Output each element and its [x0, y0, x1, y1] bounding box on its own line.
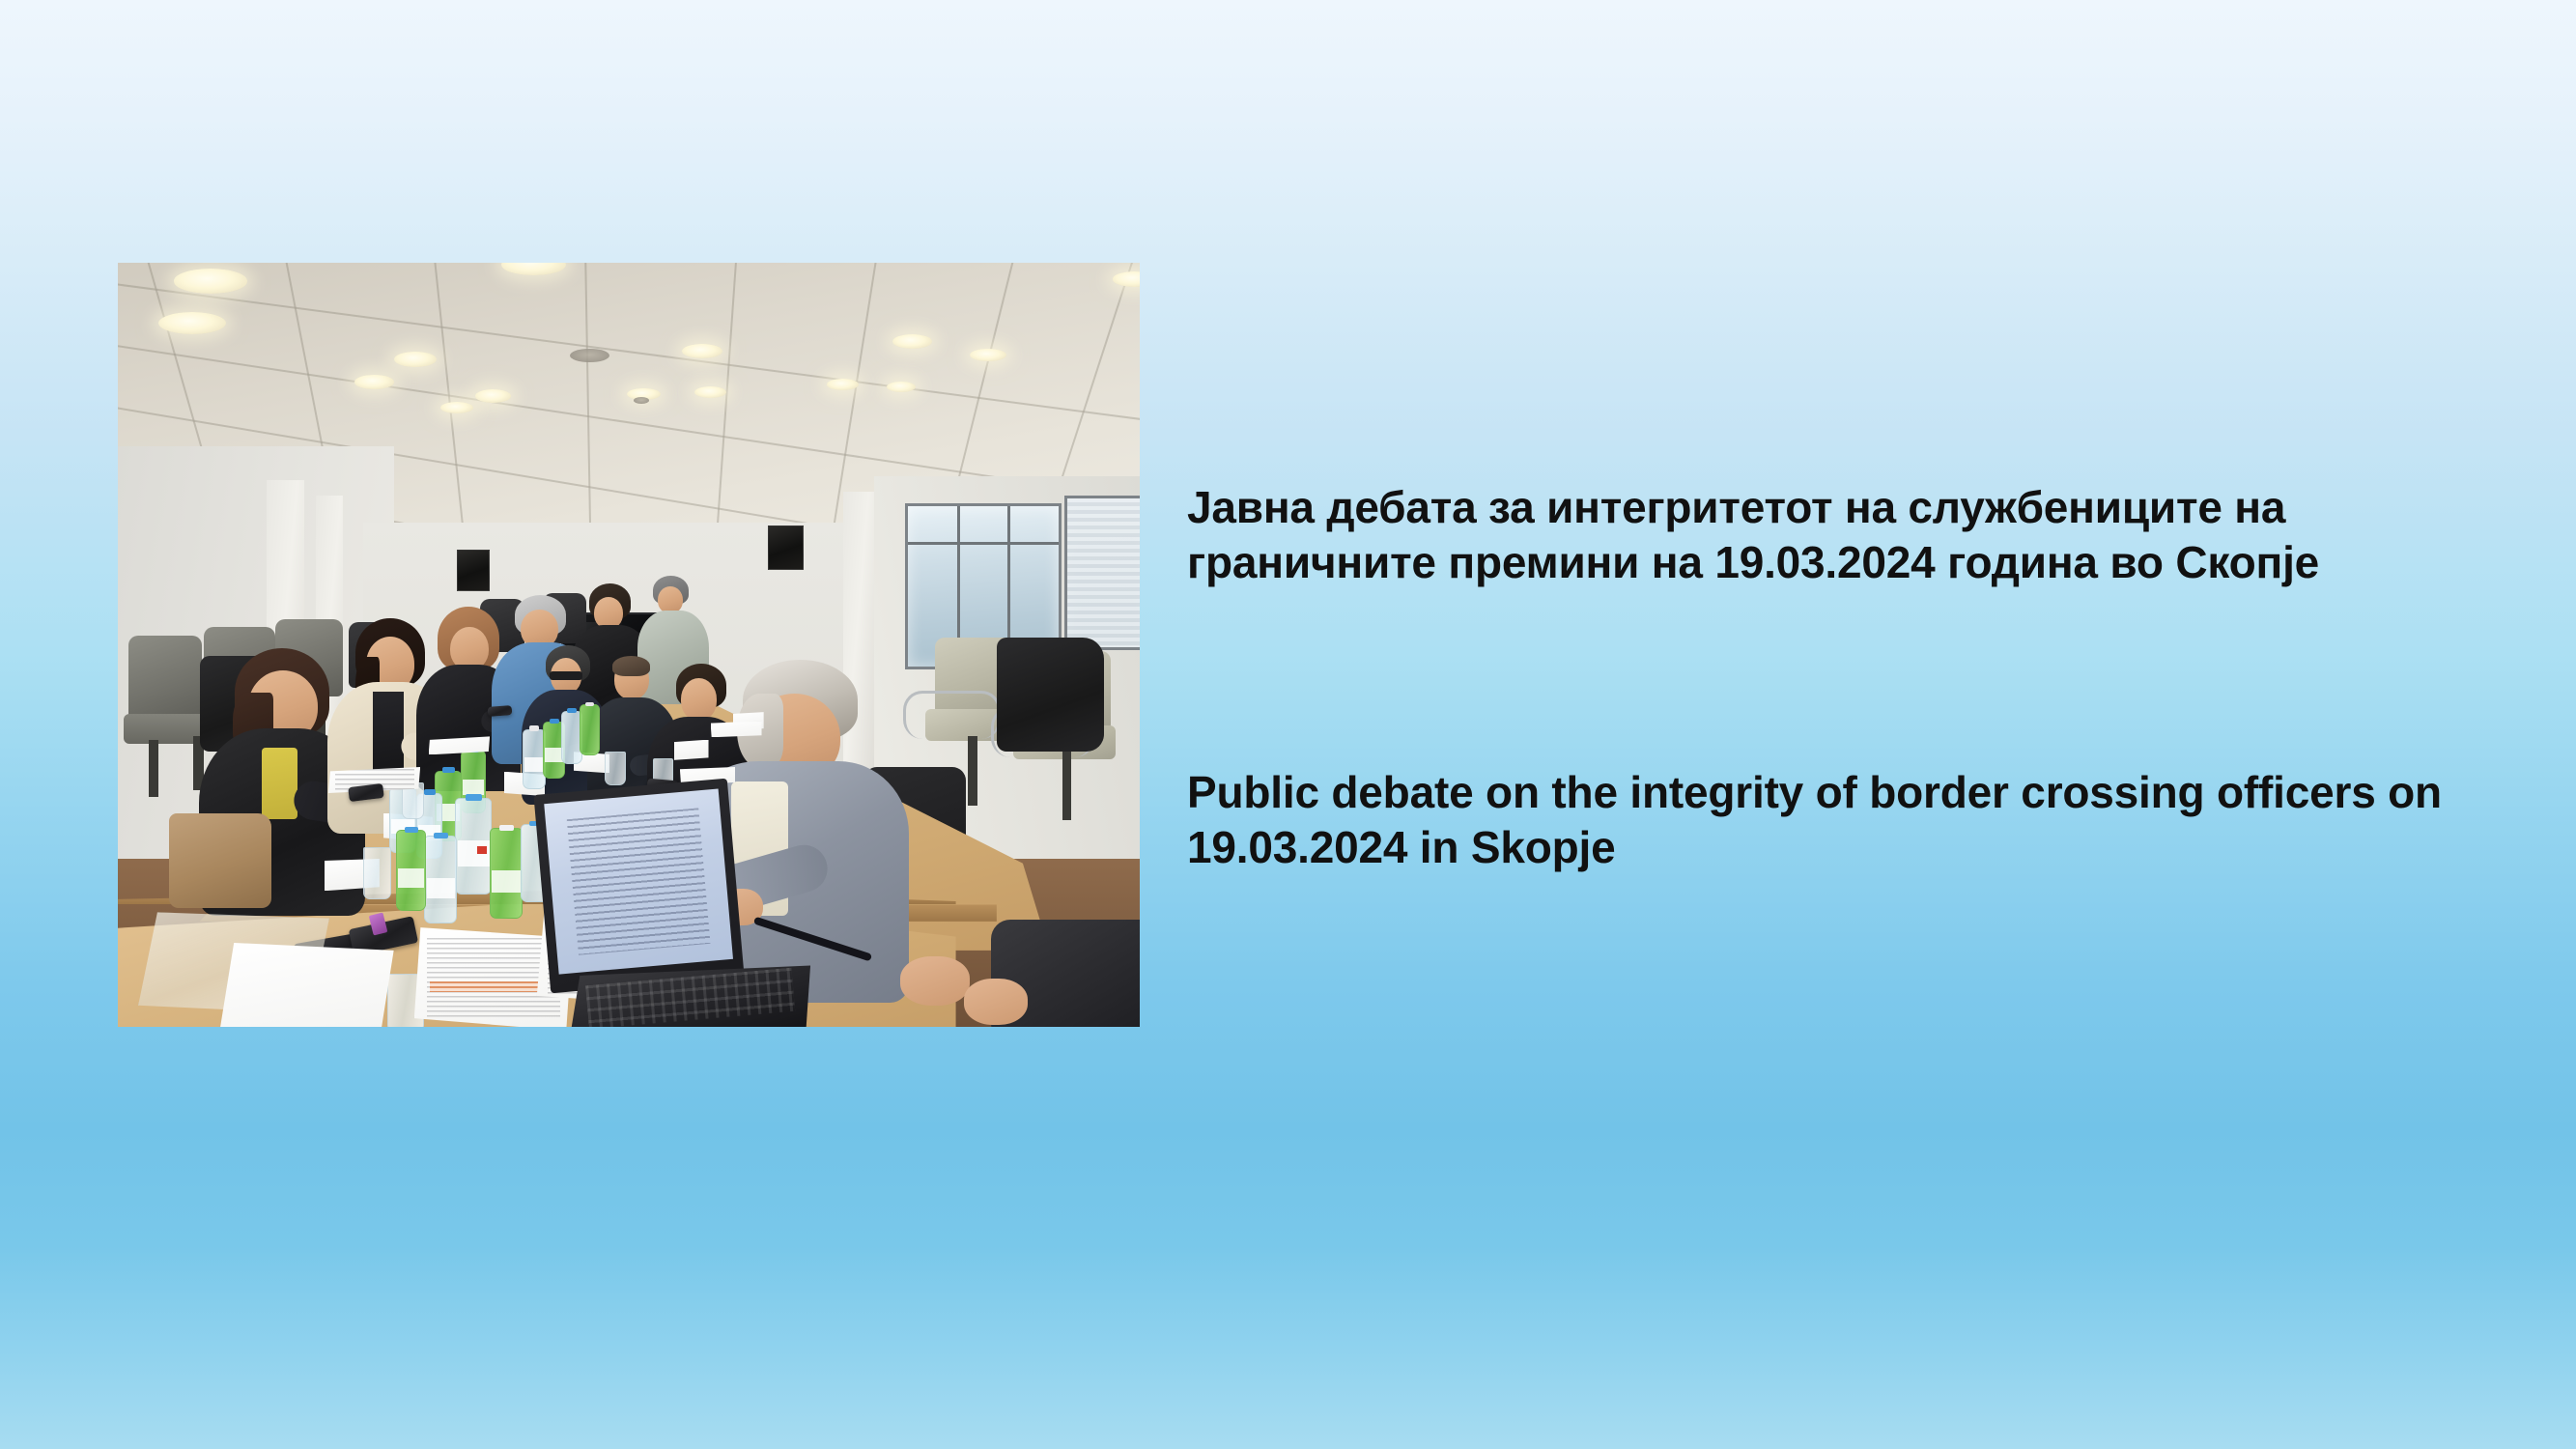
water-bottle	[396, 830, 427, 911]
document-stack	[220, 943, 394, 1027]
laptop-screen	[533, 778, 744, 992]
ceiling-downlight	[475, 389, 511, 402]
wall-speaker	[457, 550, 490, 591]
chair	[128, 636, 202, 720]
ceiling-downlight	[440, 402, 473, 413]
ceiling-downlight	[682, 344, 722, 358]
caption-english: Public debate on the integrity of border…	[1187, 765, 2443, 875]
wall-speaker	[768, 526, 804, 570]
ceiling-downlight	[394, 352, 437, 367]
ceiling-downlight	[158, 312, 226, 334]
participant-typist	[874, 920, 1140, 1027]
water-bottle	[424, 836, 457, 923]
ceiling-downlight	[354, 375, 393, 388]
presentation-slide: Јавна дебата за интегритетот на службени…	[0, 0, 2576, 1449]
caption-spacer	[1187, 645, 2443, 710]
plastic-cup	[605, 752, 626, 785]
water-bottle	[490, 828, 523, 919]
slide-caption: Јавна дебата за интегритетот на службени…	[1187, 425, 2443, 930]
coat-on-chair	[997, 638, 1104, 753]
handbag	[169, 813, 271, 909]
meeting-room-photo	[118, 263, 1140, 1027]
laptop-display	[544, 789, 733, 975]
photo-scene	[118, 263, 1140, 1027]
document	[711, 722, 762, 738]
ceiling-downlight	[694, 386, 726, 398]
ceiling-downlight	[887, 382, 917, 392]
ceiling-downlight	[174, 269, 247, 293]
plastic-cup	[363, 847, 392, 899]
caption-macedonian: Јавна дебата за интегритетот на службени…	[1187, 480, 2443, 590]
ceiling-downlight	[1113, 271, 1140, 286]
water-bottle	[580, 704, 600, 755]
room-window	[1064, 496, 1140, 650]
ceiling-downlight	[970, 349, 1006, 361]
ceiling-air-vent	[570, 349, 609, 362]
smartphone	[488, 705, 513, 717]
name-card	[674, 740, 709, 760]
water-bottle-large	[455, 798, 492, 895]
